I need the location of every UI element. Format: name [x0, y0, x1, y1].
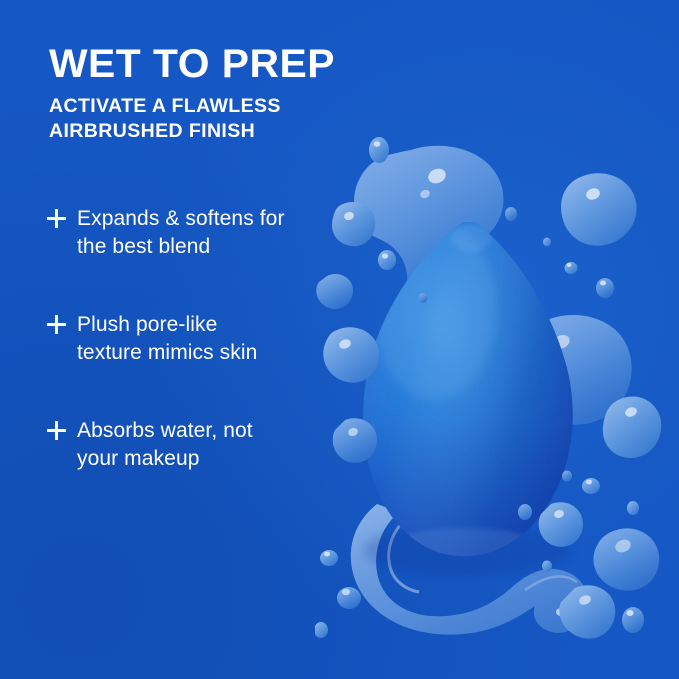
droplet-lower-1: [539, 502, 583, 547]
droplet-lower-8: [622, 607, 644, 633]
list-item: Expands & softens for the best blend: [47, 205, 347, 260]
droplet-upper-right: [561, 173, 637, 245]
benefit-list: Expands & softens for the best blend Plu…: [47, 205, 347, 472]
droplet-lower-6: [593, 528, 659, 590]
product-benefit-graphic: WET TO PREP ACTIVATE A FLAWLESS AIRBRUSH…: [0, 0, 679, 679]
droplet-lower-5: [627, 501, 639, 515]
droplet-tiny-7: [543, 238, 551, 247]
droplet-tiny-4: [505, 207, 517, 221]
droplet-bl-3: [315, 622, 328, 638]
plus-icon: [47, 314, 66, 338]
droplet-tiny-2: [419, 293, 428, 303]
droplet-lower-4: [562, 471, 572, 482]
list-item-label: Absorbs water, not your makeup: [77, 417, 253, 472]
list-item: Plush pore-like texture mimics skin: [47, 311, 347, 366]
subtitle-line-1: ACTIVATE A FLAWLESS: [49, 95, 281, 117]
subtitle-line-2: AIRBRUSHED FINISH: [49, 120, 255, 142]
droplet-tiny-3: [369, 137, 389, 163]
page-subtitle: ACTIVATE A FLAWLESS AIRBRUSHED FINISH: [49, 94, 349, 144]
droplet-tiny-6: [596, 278, 614, 298]
droplet-tiny-5: [565, 262, 578, 274]
droplet-tiny-1: [378, 250, 396, 270]
heading-block: WET TO PREP ACTIVATE A FLAWLESS AIRBRUSH…: [49, 44, 349, 144]
page-title: WET TO PREP: [49, 44, 355, 84]
list-item-label: Expands & softens for the best blend: [77, 205, 285, 260]
list-item-line-1: Absorbs water, not: [77, 419, 253, 442]
list-item-line-2: your makeup: [77, 447, 200, 470]
droplet-lower-9: [542, 561, 552, 572]
plus-icon: [47, 420, 66, 444]
droplet-lower-2: [518, 504, 532, 520]
list-item-line-2: the best blend: [77, 235, 210, 258]
list-item-label: Plush pore-like texture mimics skin: [77, 311, 257, 366]
list-item-line-1: Plush pore-like: [77, 313, 217, 336]
list-item: Absorbs water, not your makeup: [47, 417, 347, 472]
list-item-line-2: texture mimics skin: [77, 341, 257, 364]
plus-icon: [47, 208, 66, 232]
sponge-and-water-artwork: [315, 120, 679, 679]
list-item-line-1: Expands & softens for: [77, 207, 285, 230]
droplet-right-lower: [603, 396, 661, 458]
